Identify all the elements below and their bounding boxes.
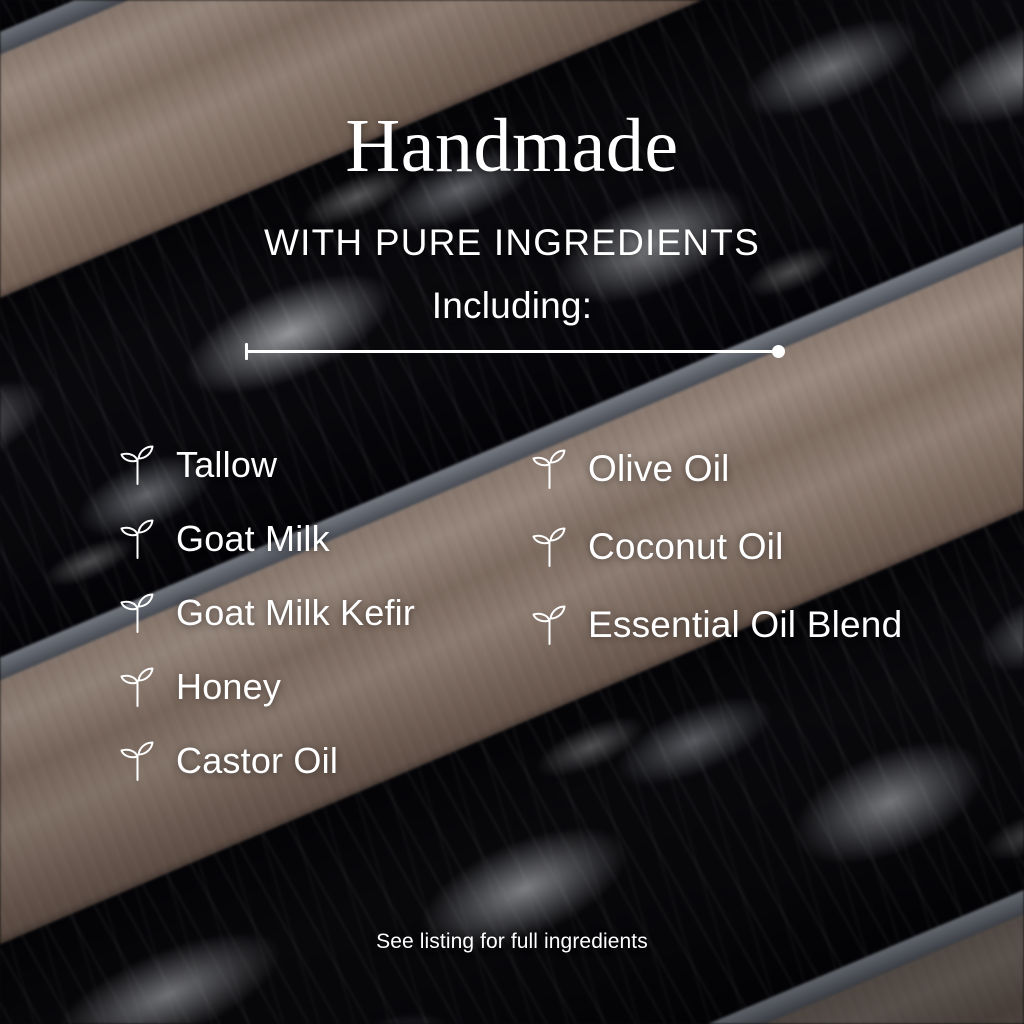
- poster-content: Handmade WITH PURE INGREDIENTS Including…: [0, 0, 1024, 1024]
- sprout-icon: [530, 603, 570, 647]
- including-label: Including:: [0, 285, 1024, 327]
- ingredient-label: Essential Oil Blend: [588, 604, 902, 646]
- ingredient-item: Tallow: [118, 428, 548, 502]
- ingredient-label: Olive Oil: [588, 448, 730, 490]
- sprout-icon: [118, 739, 158, 783]
- sprout-icon: [118, 591, 158, 635]
- sprout-icon: [530, 525, 570, 569]
- sprout-icon: [118, 517, 158, 561]
- page-title: Handmade: [0, 108, 1024, 184]
- ingredient-item: Goat Milk Kefir: [118, 576, 548, 650]
- ingredient-column-left: TallowGoat MilkGoat Milk KefirHoneyCasto…: [118, 428, 548, 798]
- ingredient-item: Coconut Oil: [530, 508, 1000, 586]
- ingredient-item: Castor Oil: [118, 724, 548, 798]
- divider: [245, 343, 782, 361]
- ingredient-item: Honey: [118, 650, 548, 724]
- ingredient-label: Coconut Oil: [588, 526, 784, 568]
- ingredient-label: Honey: [176, 666, 281, 708]
- sprout-icon: [118, 443, 158, 487]
- subtitle: WITH PURE INGREDIENTS: [0, 222, 1024, 264]
- poster-canvas: Handmade WITH PURE INGREDIENTS Including…: [0, 0, 1024, 1024]
- ingredient-item: Essential Oil Blend: [530, 586, 1000, 664]
- ingredient-label: Castor Oil: [176, 740, 338, 782]
- ingredient-label: Tallow: [176, 444, 277, 486]
- ingredient-item: Goat Milk: [118, 502, 548, 576]
- footnote: See listing for full ingredients: [0, 930, 1024, 954]
- ingredient-label: Goat Milk: [176, 518, 330, 560]
- ingredient-column-right: Olive OilCoconut OilEssential Oil Blend: [530, 430, 1000, 664]
- divider-rule: [245, 350, 782, 353]
- sprout-icon: [118, 665, 158, 709]
- ingredient-label: Goat Milk Kefir: [176, 592, 415, 634]
- ingredient-item: Olive Oil: [530, 430, 1000, 508]
- divider-right-dot: [772, 345, 785, 358]
- sprout-icon: [530, 447, 570, 491]
